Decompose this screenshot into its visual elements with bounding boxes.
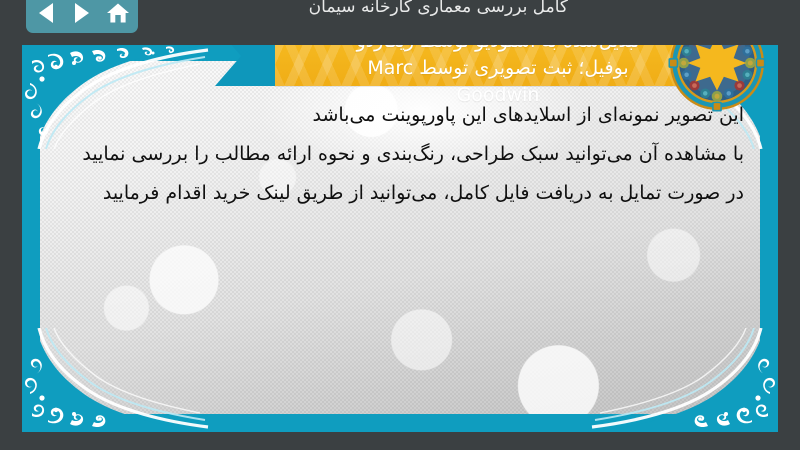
deck-title: کامل بررسی معماری کارخانه سیمان [309, 0, 568, 17]
previous-arrow-icon [39, 3, 53, 23]
banner-line-3: Goodwin [275, 82, 721, 109]
banner-line-2: بوفیل؛ ثبت تصویری توسط Marc [275, 55, 721, 82]
navigation-controls [26, 0, 138, 33]
home-button[interactable] [105, 0, 131, 26]
home-icon [106, 2, 130, 24]
body-line-3: در صورت تمایل به دریافت فایل کامل، می‌تو… [84, 174, 744, 213]
previous-slide-button[interactable] [33, 0, 59, 26]
slide-viewer: کامل بررسی معماری کارخانه سیمان [0, 0, 800, 450]
next-arrow-icon [75, 3, 89, 23]
next-slide-button[interactable] [69, 0, 95, 26]
body-line-2: با مشاهده آن می‌توانید سبک طراحی، رنگ‌بن… [84, 135, 744, 174]
slide-body-text: این تصویر نمونه‌ای از اسلایدهای این پاور… [84, 96, 744, 213]
